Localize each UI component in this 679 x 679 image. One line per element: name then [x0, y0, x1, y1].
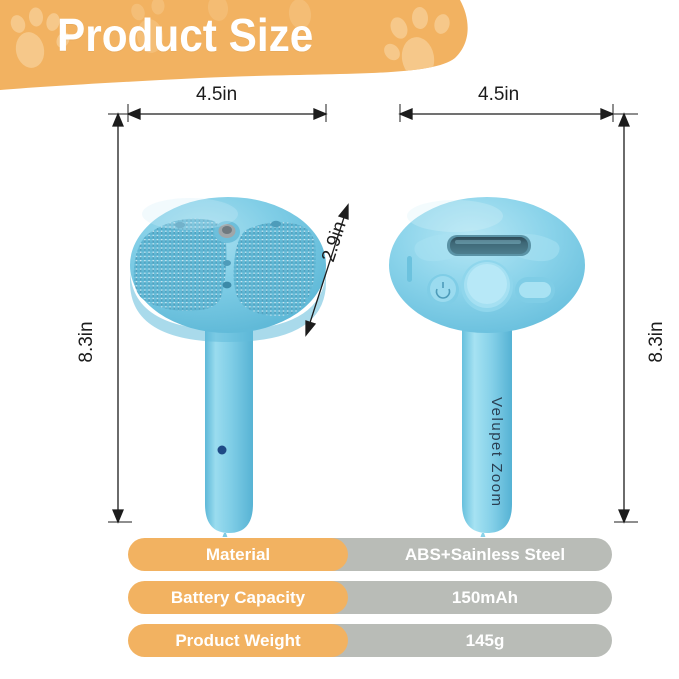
spec-value-battery-capacity: 150mAh: [328, 581, 612, 614]
product-left-front-view: [130, 197, 326, 537]
table-row: 145g Product Weight: [128, 624, 612, 657]
header-banner: Product Size: [0, 0, 679, 92]
table-row: ABS+Sainless Steel Material: [128, 538, 612, 571]
spec-key-material: Material: [128, 538, 348, 571]
product-illustration-area: Velupet Zoom: [0, 92, 679, 537]
dimension-left-width: 4.5in: [196, 84, 237, 106]
page-title: Product Size: [57, 8, 313, 62]
brand-label: Velupet Zoom: [488, 397, 505, 508]
spec-key-battery-capacity: Battery Capacity: [128, 581, 348, 614]
spec-value-material: ABS+Sainless Steel: [328, 538, 612, 571]
dimension-left-height: 8.3in: [76, 321, 98, 362]
products-svg: Velupet Zoom: [0, 92, 679, 537]
spec-key-product-weight: Product Weight: [128, 624, 348, 657]
dimension-right-height: 8.3in: [646, 321, 668, 362]
table-row: 150mAh Battery Capacity: [128, 581, 612, 614]
spec-table: ABS+Sainless Steel Material 150mAh Batte…: [128, 538, 612, 667]
product-size-infographic: Product Size: [0, 0, 679, 679]
product-right-back-view: Velupet Zoom: [389, 197, 585, 537]
spec-value-product-weight: 145g: [328, 624, 612, 657]
dimension-right-width: 4.5in: [478, 84, 519, 106]
